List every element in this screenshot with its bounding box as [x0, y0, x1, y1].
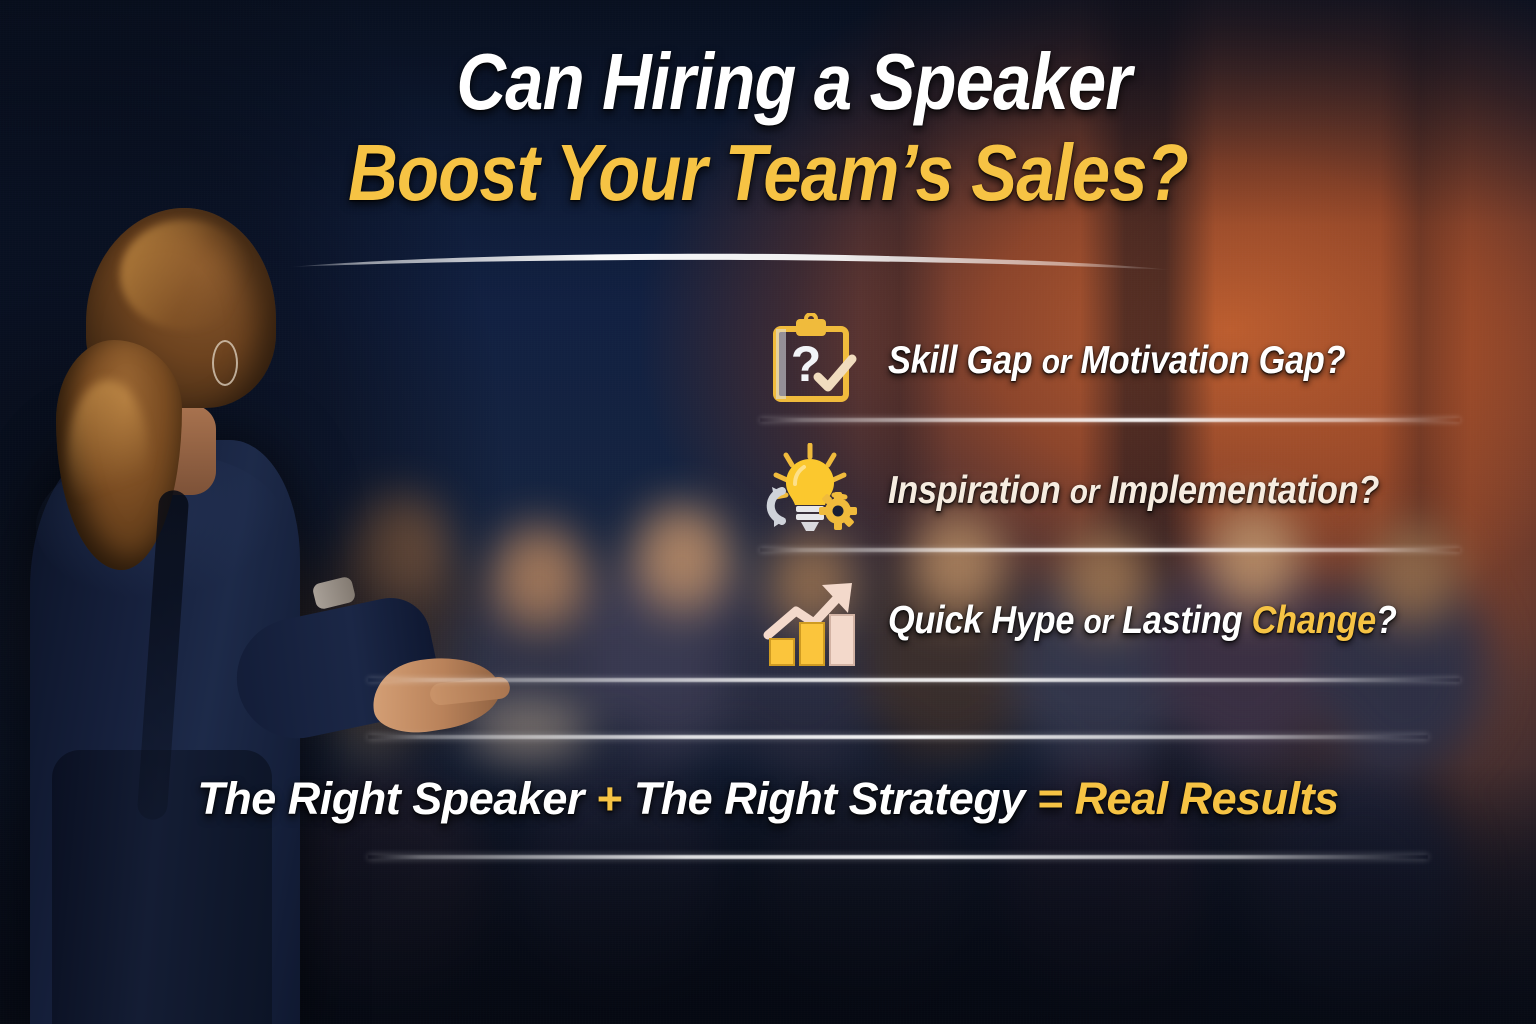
row1-connector: or — [1042, 343, 1071, 381]
headline-underline-swoosh — [286, 250, 1174, 276]
tagline-divider-top — [368, 735, 1428, 739]
tagline-divider-bottom — [368, 855, 1428, 859]
clipboard-question-check-icon: ? — [760, 313, 864, 409]
row-divider — [368, 678, 1460, 682]
headline-block: Can Hiring a Speaker Boost Your Team’s S… — [0, 44, 1536, 212]
svg-text:?: ? — [791, 336, 822, 392]
list-item[interactable]: Inspiration or Implementation? — [760, 430, 1460, 552]
lightbulb-gear-refresh-icon — [760, 443, 864, 539]
list-item[interactable]: ? Skill Gap or Motivation Gap? — [760, 300, 1460, 422]
row1-part1: Skill Gap — [888, 339, 1032, 382]
row2-part1: Inspiration — [888, 469, 1061, 512]
row1-part2: Motivation Gap — [1080, 339, 1324, 382]
tagline-segment-2: The Right Strategy — [634, 773, 1025, 824]
growth-bar-chart-arrow-icon — [760, 573, 864, 669]
list-item-text: Quick Hype or Lasting Change? — [888, 599, 1397, 643]
row-divider — [760, 418, 1460, 422]
tagline-operator-plus: + — [596, 773, 622, 824]
question-list: ? Skill Gap or Motivation Gap? — [760, 300, 1460, 682]
tagline-text: The Right Speaker + The Right Strategy =… — [0, 773, 1536, 825]
row-divider — [760, 548, 1460, 552]
row3-part1: Quick Hype — [888, 599, 1074, 642]
row3-part3: Change — [1252, 599, 1376, 642]
row3-part2: Lasting — [1122, 599, 1242, 642]
list-item-text: Inspiration or Implementation? — [888, 469, 1379, 513]
row2-suffix: ? — [1358, 469, 1379, 512]
row1-suffix: ? — [1325, 339, 1346, 382]
list-item[interactable]: Quick Hype or Lasting Change? — [760, 560, 1460, 682]
row2-part2: Implementation — [1108, 469, 1358, 512]
poster-canvas: Can Hiring a Speaker Boost Your Team’s S… — [0, 0, 1536, 1024]
row3-suffix: ? — [1376, 599, 1397, 642]
tagline-operator-equals: = — [1037, 773, 1063, 824]
poster-content: Can Hiring a Speaker Boost Your Team’s S… — [0, 0, 1536, 1024]
list-item-text: Skill Gap or Motivation Gap? — [888, 339, 1345, 383]
headline-line-2: Boost Your Team’s Sales? — [108, 135, 1429, 212]
row2-connector: or — [1070, 473, 1099, 511]
tagline-segment-3: Real Results — [1075, 773, 1339, 824]
headline-line-1: Can Hiring a Speaker — [108, 44, 1429, 121]
row3-connector: or — [1083, 603, 1112, 641]
tagline-segment-1: The Right Speaker — [197, 773, 584, 824]
